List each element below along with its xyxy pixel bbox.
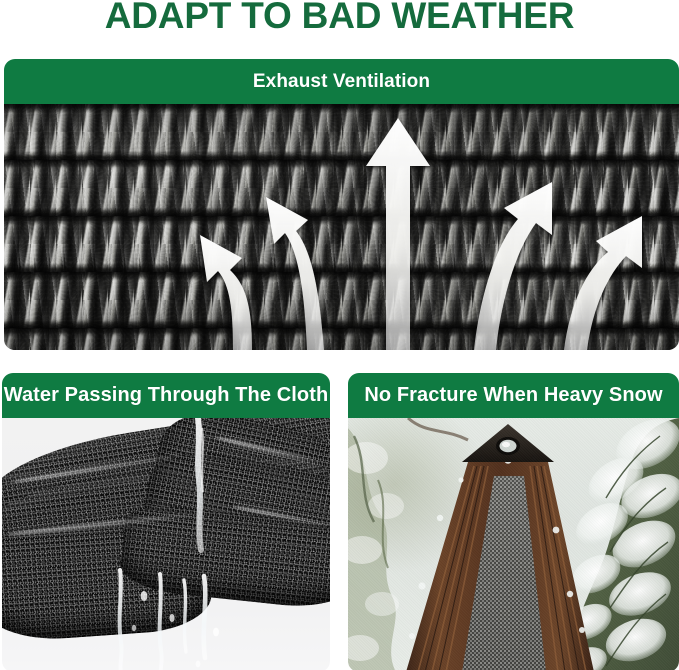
water-stream-group xyxy=(2,418,330,670)
cap-rivet-right xyxy=(531,455,536,460)
water-pour-top-highlight xyxy=(202,428,203,492)
panel-water-passing: Water Passing Through The Cloth xyxy=(2,373,330,670)
page-title: ADAPT TO BAD WEATHER xyxy=(0,0,679,38)
airflow-arrow-3 xyxy=(366,118,430,350)
airflow-arrow-2 xyxy=(266,197,324,350)
panel-caption-label-water: Water Passing Through The Cloth xyxy=(4,384,329,407)
panel-caption-label-snow: No Fracture When Heavy Snow xyxy=(364,384,662,407)
cap-grommet-highlight xyxy=(502,442,510,448)
water-drip-2 xyxy=(160,574,162,670)
panel-exhaust-ventilation: Exhaust Ventilation xyxy=(4,59,679,350)
water-droplet-5 xyxy=(132,625,136,631)
water-droplet-2 xyxy=(169,614,174,622)
cap-rivet-left xyxy=(479,455,484,460)
airflow-arrow-1 xyxy=(200,235,252,350)
water-droplet-4 xyxy=(196,661,201,668)
panel-photo-exhaust xyxy=(4,104,679,350)
panel-caption-banner-snow: No Fracture When Heavy Snow xyxy=(348,373,679,418)
background-foliage-left xyxy=(348,428,404,670)
panel-photo-snow xyxy=(348,418,679,670)
water-droplet-1 xyxy=(141,591,148,601)
bare-branch xyxy=(408,418,468,440)
panel-no-fracture-snow: No Fracture When Heavy Snow xyxy=(348,373,679,670)
panel-caption-label-exhaust: Exhaust Ventilation xyxy=(253,71,430,93)
airflow-arrow-4 xyxy=(474,182,552,350)
panel-caption-banner-water: Water Passing Through The Cloth xyxy=(2,373,330,418)
conical-plant-cover xyxy=(406,424,594,670)
panel-caption-banner-exhaust: Exhaust Ventilation xyxy=(4,59,679,104)
infographic-root: ADAPT TO BAD WEATHER Exhaust Ventilation xyxy=(0,0,679,670)
snow-scene-graphics xyxy=(348,418,679,670)
water-pour-top xyxy=(198,418,201,550)
water-droplet-3 xyxy=(213,628,219,637)
water-drip-4 xyxy=(204,576,206,658)
water-drip-1 xyxy=(120,570,122,670)
panel-photo-water xyxy=(2,418,330,670)
airflow-arrow-5 xyxy=(564,216,642,350)
airflow-arrows-group xyxy=(4,104,679,350)
water-drip-3 xyxy=(184,580,186,652)
